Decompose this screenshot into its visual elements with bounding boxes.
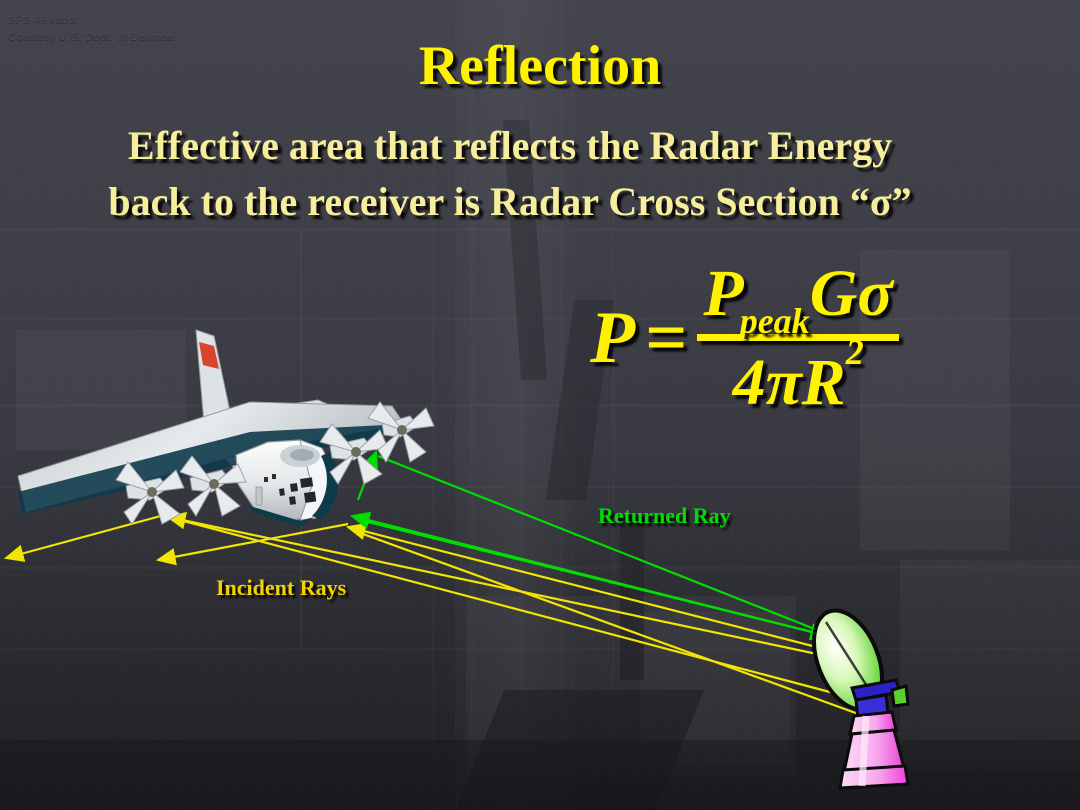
- radar-pedestal-base: [840, 766, 908, 788]
- incident-rays-label: Incident Rays: [216, 575, 346, 601]
- incident-ray-scatter-1: [6, 514, 168, 558]
- radar-illustration: [801, 601, 908, 788]
- aircraft-door: [256, 487, 262, 505]
- radar-counterweight: [892, 686, 908, 706]
- presentation-slide: SPS 49 radar Courtesy U.S. Dept. of Defe…: [0, 0, 1080, 810]
- returned-ray-4: [378, 456, 812, 628]
- incident-ray-scatter-2: [158, 524, 348, 560]
- returned-rays-group: [352, 452, 828, 636]
- aircraft-illustration: [18, 330, 434, 527]
- incident-ray-1: [348, 527, 836, 652]
- incident-ray-4: [352, 530, 864, 716]
- returned-ray-2: [352, 516, 820, 634]
- returned-ray-label: Returned Ray: [598, 503, 731, 529]
- incident-rays-group: [6, 514, 864, 716]
- ray-diagram: [0, 0, 1080, 810]
- incident-ray-3: [176, 519, 860, 700]
